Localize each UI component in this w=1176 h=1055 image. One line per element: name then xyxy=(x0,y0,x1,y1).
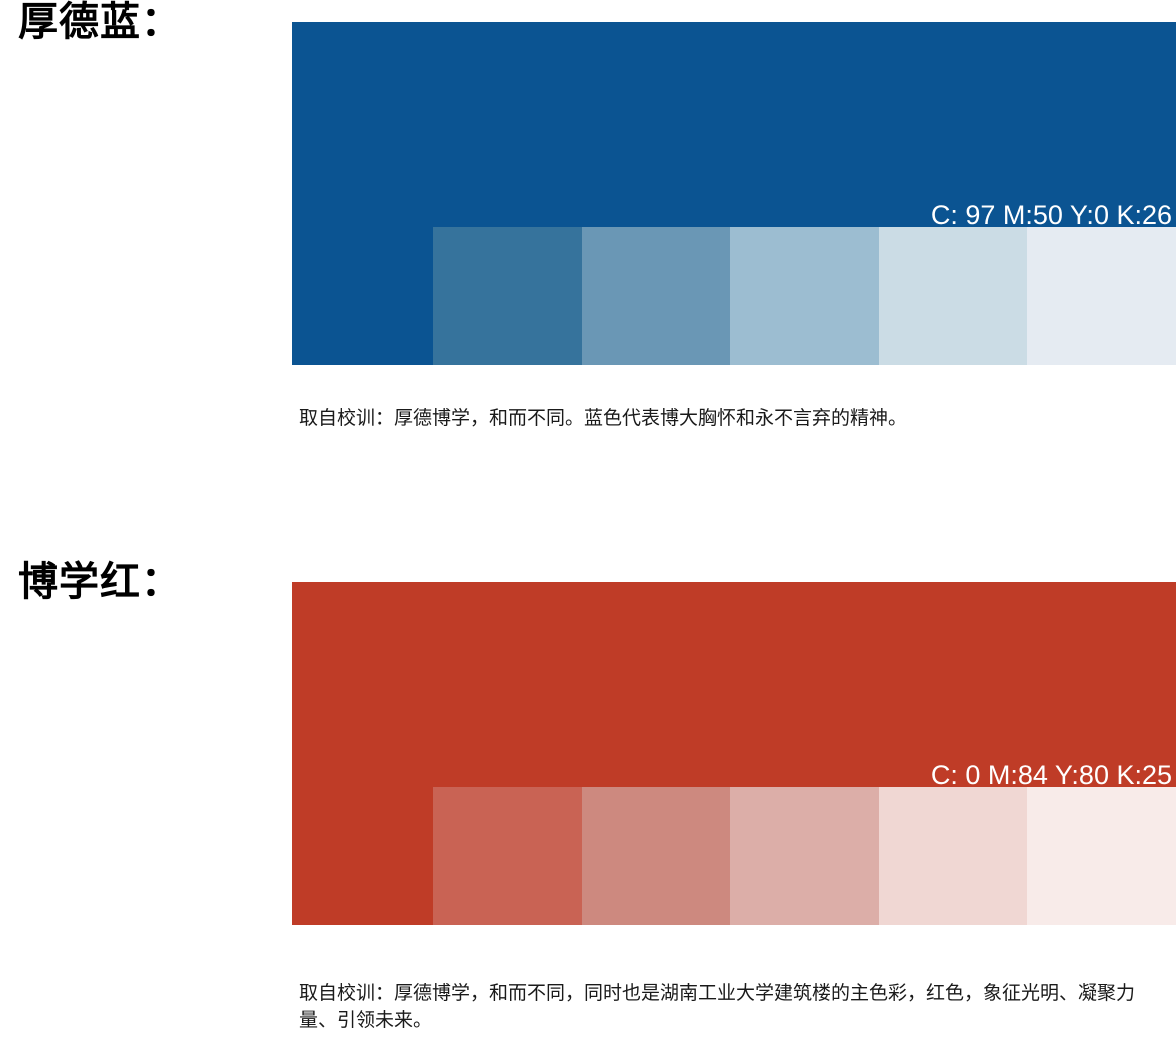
base-color-band-red: C: 0 M:84 Y:80 K:25 xyxy=(292,582,1176,787)
tint-swatch-blue-2 xyxy=(433,227,582,365)
section-title-blue: 厚德蓝： xyxy=(18,0,182,44)
tint-swatch-blue-1 xyxy=(292,227,433,365)
tint-swatch-blue-5 xyxy=(879,227,1028,365)
tint-swatch-blue-3 xyxy=(582,227,731,365)
tint-row-red xyxy=(292,787,1176,925)
tint-swatch-red-1 xyxy=(292,787,433,925)
cmyk-label-blue: C: 97 M:50 Y:0 K:26 xyxy=(931,199,1172,231)
swatch-block-red: C: 0 M:84 Y:80 K:25 xyxy=(292,582,1176,925)
section-title-red: 博学红： xyxy=(18,560,182,604)
tint-row-blue xyxy=(292,227,1176,365)
tint-swatch-red-5 xyxy=(879,787,1028,925)
tint-swatch-red-6 xyxy=(1027,787,1176,925)
tint-swatch-red-4 xyxy=(730,787,879,925)
base-color-band-blue: C: 97 M:50 Y:0 K:26 xyxy=(292,22,1176,227)
tint-swatch-blue-6 xyxy=(1027,227,1176,365)
tint-swatch-red-3 xyxy=(582,787,731,925)
caption-red: 取自校训：厚德博学，和而不同，同时也是湖南工业大学建筑楼的主色彩，红色，象征光明… xyxy=(299,980,1159,1034)
tint-swatch-blue-4 xyxy=(730,227,879,365)
cmyk-label-red: C: 0 M:84 Y:80 K:25 xyxy=(931,759,1172,791)
caption-blue: 取自校训：厚德博学，和而不同。蓝色代表博大胸怀和永不言弃的精神。 xyxy=(299,405,1159,432)
tint-swatch-red-2 xyxy=(433,787,582,925)
swatch-block-blue: C: 97 M:50 Y:0 K:26 xyxy=(292,22,1176,365)
